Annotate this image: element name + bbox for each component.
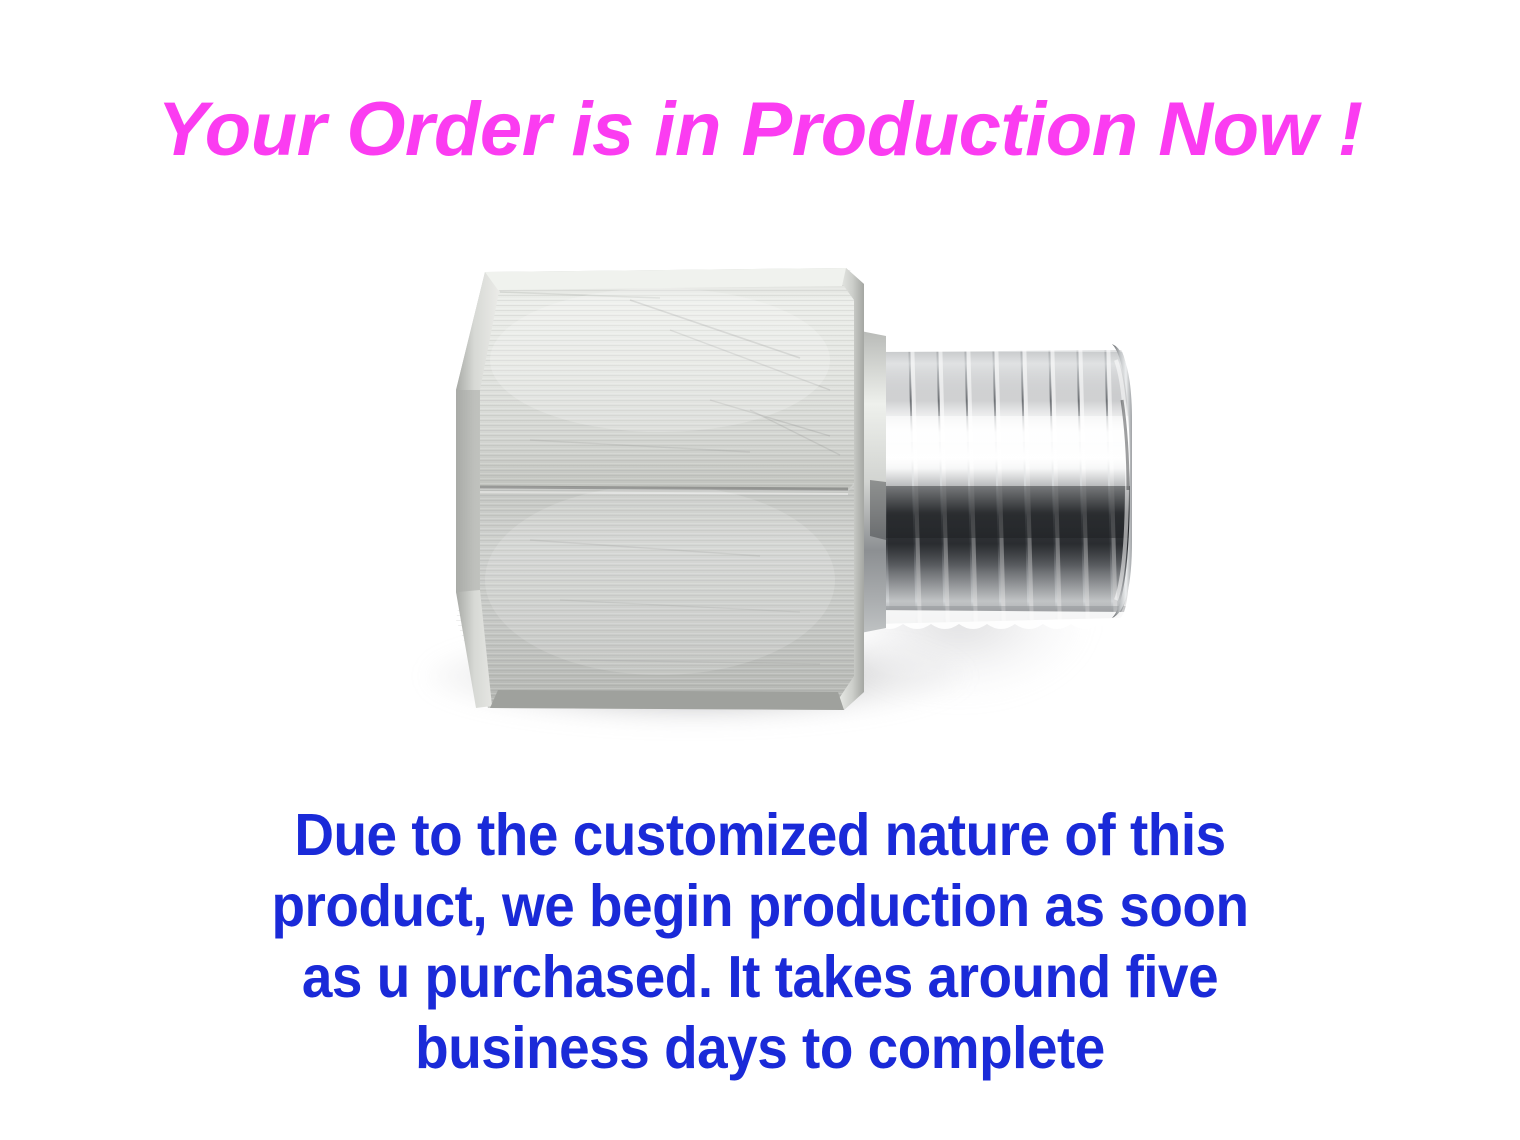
notice-line-2: product, we begin production as soon <box>53 871 1467 942</box>
notice-line-4: business days to complete <box>53 1013 1467 1084</box>
production-notice: Due to the customized nature of this pro… <box>0 800 1520 1084</box>
page-title: Your Order is in Production Now ! <box>0 92 1520 168</box>
threaded-shank <box>870 333 1150 630</box>
hex-pipe-adapter-icon <box>330 240 1190 800</box>
notice-line-1: Due to the customized nature of this <box>53 800 1467 871</box>
notice-line-3: as u purchased. It takes around five <box>53 942 1467 1013</box>
promo-banner: Your Order is in Production Now ! <box>0 0 1520 1140</box>
product-photo <box>330 240 1190 800</box>
hex-body <box>450 260 880 720</box>
